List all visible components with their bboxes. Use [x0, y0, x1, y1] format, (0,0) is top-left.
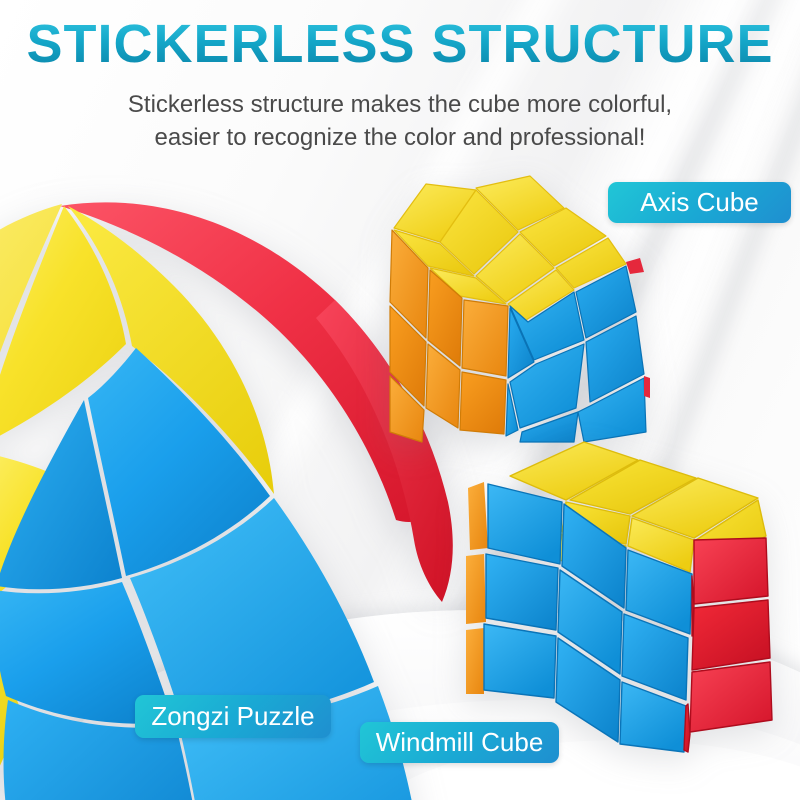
label-badge-axis-cube: Axis Cube [608, 182, 791, 223]
promo-canvas: STICKERLESS STRUCTURE Stickerless struct… [0, 0, 800, 800]
axis-facet [462, 300, 508, 376]
axis-facet [460, 372, 506, 434]
windmill-piece [690, 662, 772, 732]
windmill-right-face [684, 538, 772, 752]
label-badge-zongzi-puzzle: Zongzi Puzzle [135, 695, 331, 738]
windmill-piece [484, 624, 556, 698]
windmill-piece [694, 538, 768, 604]
product-image-windmill-cube [466, 432, 776, 752]
axis-facet [644, 376, 650, 398]
page-subtitle: Stickerless structure makes the cube mor… [60, 88, 740, 154]
windmill-piece [488, 484, 562, 564]
page-title: STICKERLESS STRUCTURE [0, 16, 800, 73]
windmill-piece [486, 554, 558, 630]
windmill-piece [468, 482, 488, 550]
windmill-piece [692, 600, 770, 670]
subtitle-line-1: Stickerless structure makes the cube mor… [60, 88, 740, 121]
label-badge-windmill-cube: Windmill Cube [360, 722, 559, 763]
subtitle-line-2: easier to recognize the color and profes… [60, 121, 740, 154]
axis-facet [626, 258, 644, 274]
windmill-piece [466, 554, 486, 624]
windmill-piece [466, 628, 484, 694]
